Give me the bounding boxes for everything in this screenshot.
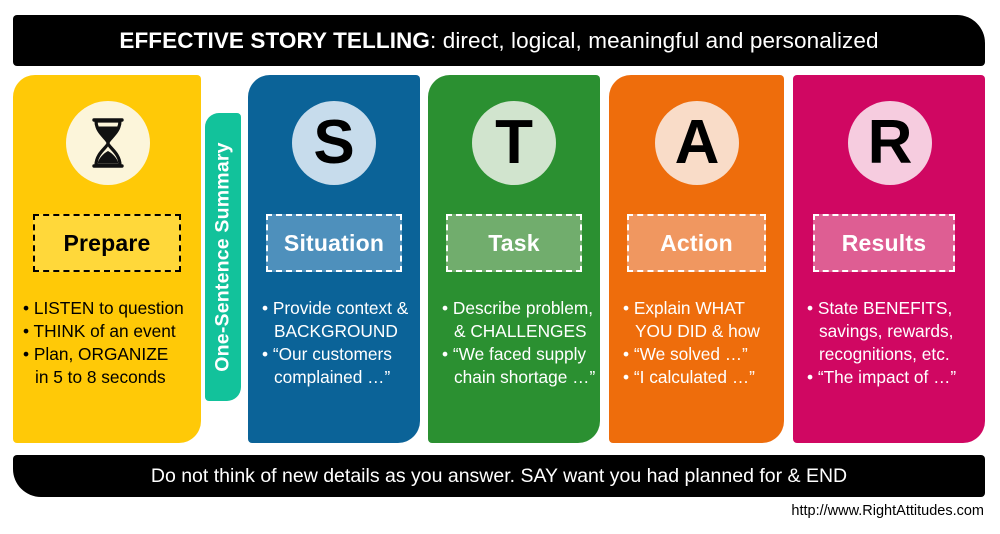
list-item: • “I calculated …” (623, 366, 776, 389)
letter-t-glyph: T (495, 112, 533, 174)
footer-text: Do not think of new details as you answe… (151, 465, 847, 488)
list-item: • “The impact of …” (807, 366, 977, 389)
list-item: • LISTEN to question (23, 297, 193, 320)
column-prepare: Prepare • LISTEN to question • THINK of … (13, 75, 201, 443)
hourglass-icon-badge (66, 101, 150, 185)
label-box-situation: Situation (266, 214, 402, 272)
list-item: • Describe problem, (442, 297, 592, 320)
bullets-prepare: • LISTEN to question • THINK of an event… (23, 297, 193, 389)
list-item-continuation: complained …” (262, 366, 412, 389)
label-box-task: Task (446, 214, 582, 272)
bullets-task: • Describe problem, & CHALLENGES • “We f… (442, 297, 592, 389)
list-item: • Provide context & (262, 297, 412, 320)
header-bar: EFFECTIVE STORY TELLING: direct, logical… (13, 15, 985, 66)
letter-a-glyph: A (675, 112, 720, 174)
letter-s-glyph: S (313, 112, 354, 174)
letter-r-glyph: R (868, 112, 913, 174)
column-label-prepare: Prepare (63, 230, 150, 257)
label-box-results: Results (813, 214, 955, 272)
label-box-action: Action (627, 214, 766, 272)
column-situation: S Situation • Provide context & BACKGROU… (248, 75, 420, 443)
page-title-strong: EFFECTIVE STORY TELLING (119, 28, 430, 53)
label-box-prepare: Prepare (33, 214, 181, 272)
letter-a-badge: A (655, 101, 739, 185)
list-item-continuation: & CHALLENGES (442, 320, 592, 343)
site-url: http://www.RightAttitudes.com (791, 503, 984, 519)
one-sentence-summary-label: One-Sentence Summary (212, 142, 235, 371)
one-sentence-summary-tab: One-Sentence Summary (205, 113, 241, 401)
list-item: • State BENEFITS, (807, 297, 977, 320)
page-title: EFFECTIVE STORY TELLING: direct, logical… (119, 28, 878, 54)
list-item-continuation: in 5 to 8 seconds (23, 366, 193, 389)
list-item: • “We solved …” (623, 343, 776, 366)
column-label-situation: Situation (284, 230, 384, 257)
letter-s-badge: S (292, 101, 376, 185)
bullets-results: • State BENEFITS, savings, rewards, reco… (807, 297, 977, 389)
list-item-continuation: chain shortage …” (442, 366, 592, 389)
column-action: A Action • Explain WHAT YOU DID & how • … (609, 75, 784, 443)
list-item-continuation: BACKGROUND (262, 320, 412, 343)
hourglass-icon (86, 117, 130, 169)
list-item: • Plan, ORGANIZE (23, 343, 193, 366)
list-item: • Explain WHAT (623, 297, 776, 320)
page-title-rest: : direct, logical, meaningful and person… (430, 28, 879, 53)
column-results: R Results • State BENEFITS, savings, rew… (793, 75, 985, 443)
column-label-results: Results (842, 230, 926, 257)
list-item: • “We faced supply (442, 343, 592, 366)
letter-r-badge: R (848, 101, 932, 185)
list-item-continuation: YOU DID & how (623, 320, 776, 343)
footer-bar: Do not think of new details as you answe… (13, 455, 985, 497)
list-item: • THINK of an event (23, 320, 193, 343)
infographic-poster: EFFECTIVE STORY TELLING: direct, logical… (0, 0, 1000, 534)
list-item: • “Our customers (262, 343, 412, 366)
column-label-action: Action (660, 230, 733, 257)
list-item-continuation: savings, rewards, (807, 320, 977, 343)
bullets-action: • Explain WHAT YOU DID & how • “We solve… (623, 297, 776, 389)
bullets-situation: • Provide context & BACKGROUND • “Our cu… (262, 297, 412, 389)
column-label-task: Task (488, 230, 540, 257)
letter-t-badge: T (472, 101, 556, 185)
list-item-continuation: recognitions, etc. (807, 343, 977, 366)
column-task: T Task • Describe problem, & CHALLENGES … (428, 75, 600, 443)
